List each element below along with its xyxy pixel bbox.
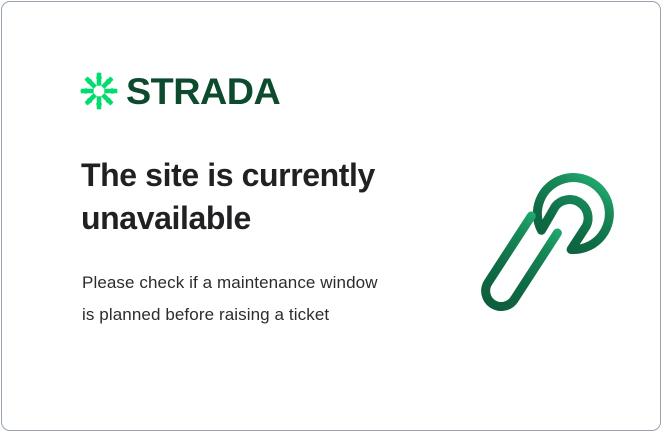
status-page-card: STRADA The site is currently unavailable… [1, 1, 661, 431]
brand-wordmark: STRADA [126, 73, 280, 110]
strada-spark-icon [80, 72, 118, 110]
page-title: The site is currently unavailable [81, 154, 411, 240]
wrench-icon [454, 154, 618, 314]
page-description: Please check if a maintenance window is … [82, 267, 382, 331]
brand-logo: STRADA [80, 72, 277, 110]
